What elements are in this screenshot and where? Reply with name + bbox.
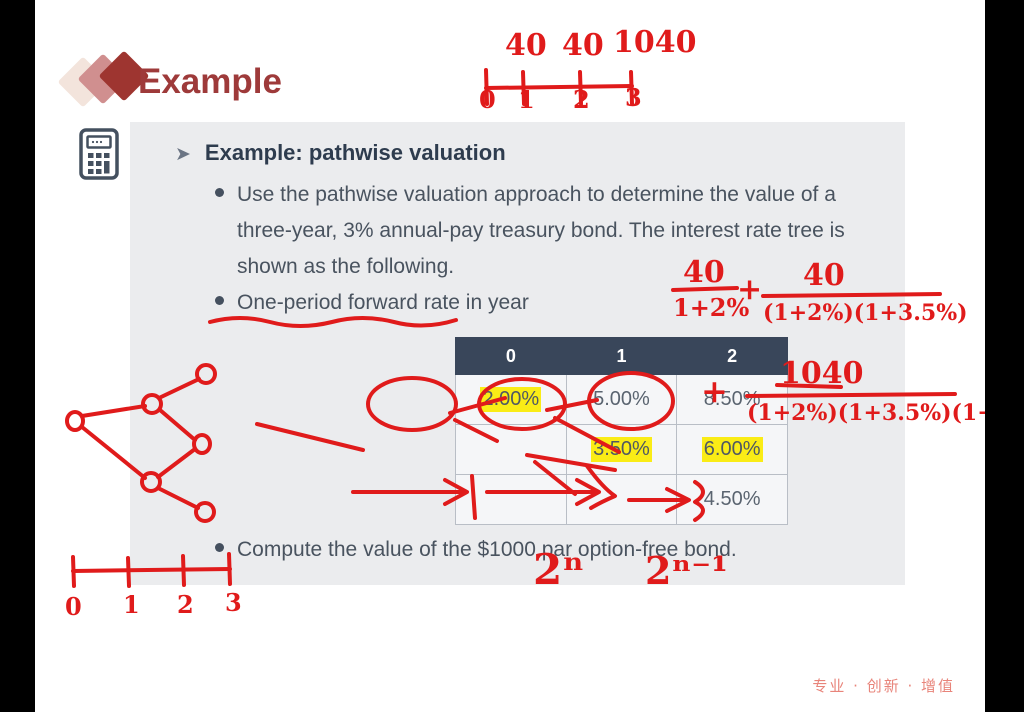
table-header-row: 0 1 2 xyxy=(456,338,788,375)
footer-watermark: 专业 · 创新 · 增值 xyxy=(812,675,955,696)
calculator-icon xyxy=(79,128,119,180)
slide-canvas: Example ➤ Example: xyxy=(35,0,985,712)
table-row: 4.50% xyxy=(456,475,788,525)
column-header-year-0: 0 xyxy=(456,338,567,375)
lead-heading: Example: pathwise valuation xyxy=(205,140,506,166)
table-row: 3.50% 6.00% xyxy=(456,425,788,475)
bullet-item: Use the pathwise valuation approach to d… xyxy=(215,177,895,285)
rate-cell-r1c1: 3.50% xyxy=(566,425,677,475)
ink-cashflow-40-b: 40 xyxy=(562,28,604,63)
ink-bottom-period-3: 3 xyxy=(225,588,242,617)
ink-top-period-1: 1 xyxy=(518,85,535,114)
ink-top-tick-2 xyxy=(580,72,581,104)
rate-cell-r2c1 xyxy=(566,475,677,525)
ink-top-tick-1 xyxy=(523,72,524,104)
rate-cell-r0c2: 8.50% xyxy=(677,375,788,425)
rate-value: 6.00% xyxy=(702,437,763,462)
rate-cell-r0c1: 5.00% xyxy=(566,375,677,425)
ink-cashflow-1040: 1040 xyxy=(613,25,697,60)
rate-cell-r2c2: 4.50% xyxy=(677,475,788,525)
ink-top-period-2: 2 xyxy=(573,85,590,114)
rate-cell-r1c0 xyxy=(456,425,567,475)
arrow-bullet-icon: ➤ xyxy=(175,145,191,164)
screenshot-root: Example ➤ Example: xyxy=(0,0,1024,712)
bullet-dot-icon xyxy=(215,296,224,305)
rate-cell-r1c2: 6.00% xyxy=(677,425,788,475)
bullet-text: Use the pathwise valuation approach to d… xyxy=(237,177,895,285)
content-panel: ➤ Example: pathwise valuation Use the pa… xyxy=(130,122,905,585)
rate-cell-r0c0: 2.00% xyxy=(456,375,567,425)
ink-top-timeline-axis xyxy=(486,86,632,88)
ink-bottom-period-0: 0 xyxy=(65,592,82,621)
ink-top-tick-3 xyxy=(631,72,632,104)
page-title: Example xyxy=(138,62,282,102)
column-header-year-2: 2 xyxy=(677,338,788,375)
column-header-year-1: 1 xyxy=(566,338,677,375)
bullet-text: Compute the value of the $1000 par optio… xyxy=(237,532,737,568)
bullet-dot-icon xyxy=(215,188,224,197)
forward-rate-table: 0 1 2 2.00% 5.00% 8.50% 3.50% 6.00% xyxy=(455,337,788,525)
bullet-item: One-period forward rate in year xyxy=(215,285,895,321)
bullet-item: Compute the value of the $1000 par optio… xyxy=(215,532,895,568)
lead-heading-row: ➤ Example: pathwise valuation xyxy=(175,140,875,166)
ink-top-period-3: 3 xyxy=(625,83,642,112)
rate-cell-r2c0 xyxy=(456,475,567,525)
rate-value: 3.50% xyxy=(591,437,652,462)
bullet-dot-icon xyxy=(215,543,224,552)
ink-bottom-period-1: 1 xyxy=(123,590,140,619)
ink-cashflow-40-a: 40 xyxy=(505,28,547,63)
table-row: 2.00% 5.00% 8.50% xyxy=(456,375,788,425)
rate-value: 2.00% xyxy=(480,387,541,412)
ink-bottom-period-2: 2 xyxy=(177,590,194,619)
ink-top-tick-0 xyxy=(486,70,487,104)
bullet-text: One-period forward rate in year xyxy=(237,285,529,321)
ink-top-period-0: 0 xyxy=(479,85,496,114)
